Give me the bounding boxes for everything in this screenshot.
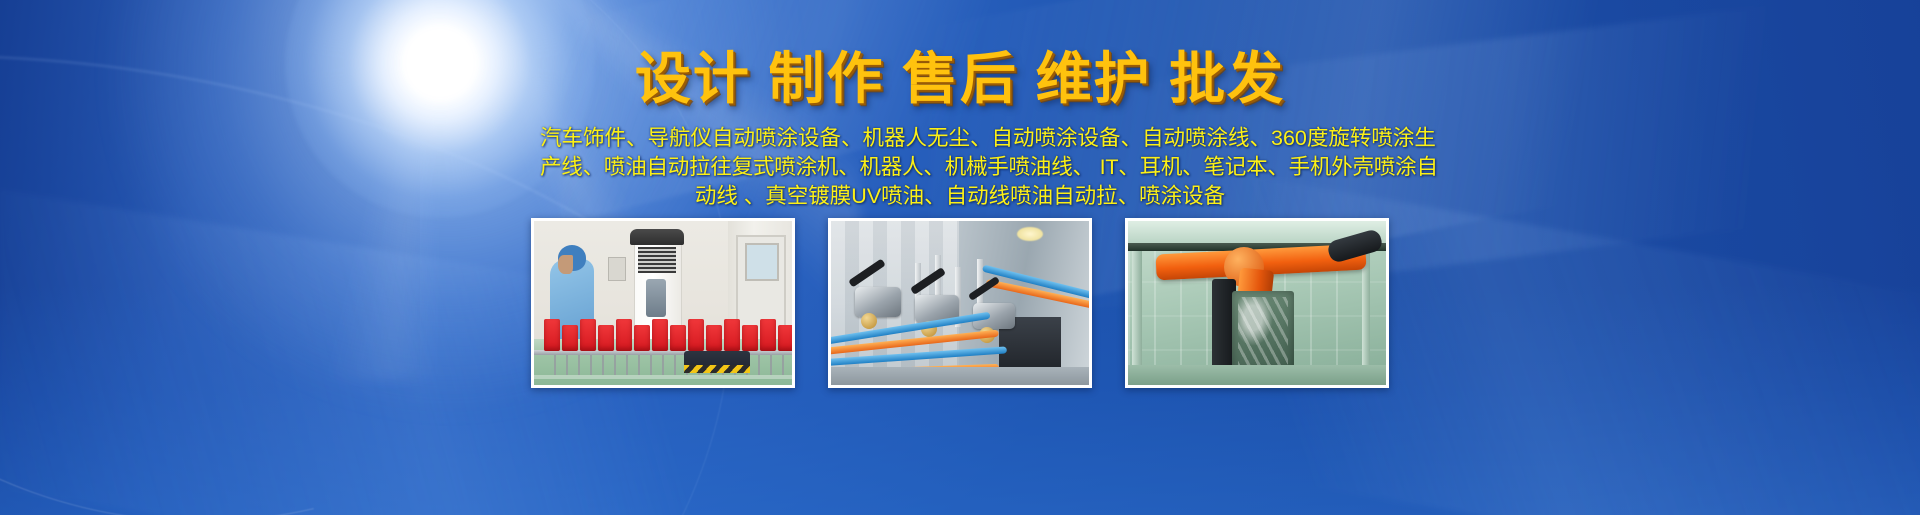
banner-description: 汽车饰件、导航仪自动喷涂设备、机器人无尘、自动喷涂设备、自动喷涂线、360度旋转… [540,124,1380,211]
photo-image [831,221,1089,385]
promotional-banner: 设计 制作 售后 维护 批发 汽车饰件、导航仪自动喷涂设备、机器人无尘、自动喷涂… [0,0,1920,515]
photo-gallery [531,218,1389,390]
photo-cleanroom-coating-line[interactable] [531,218,795,388]
banner-content: 设计 制作 售后 维护 批发 汽车饰件、导航仪自动喷涂设备、机器人无尘、自动喷涂… [0,0,1920,515]
photo-spray-gun-assembly[interactable] [828,218,1092,388]
photo-robot-spray-booth[interactable] [1125,218,1389,388]
banner-headline: 设计 制作 售后 维护 批发 [0,50,1920,109]
photo-image [534,221,792,385]
description-line-3: 动线 、真空镀膜UV喷油、自动线喷油自动拉、喷涂设备 [540,182,1380,211]
description-line-1: 汽车饰件、导航仪自动喷涂设备、机器人无尘、自动喷涂设备、自动喷涂线、360度旋转… [540,124,1380,153]
photo-image [1128,221,1386,385]
description-line-2: 产线、喷油自动拉往复式喷涂机、机器人、机械手喷油线、 IT、耳机、笔记本、手机外… [540,153,1380,182]
